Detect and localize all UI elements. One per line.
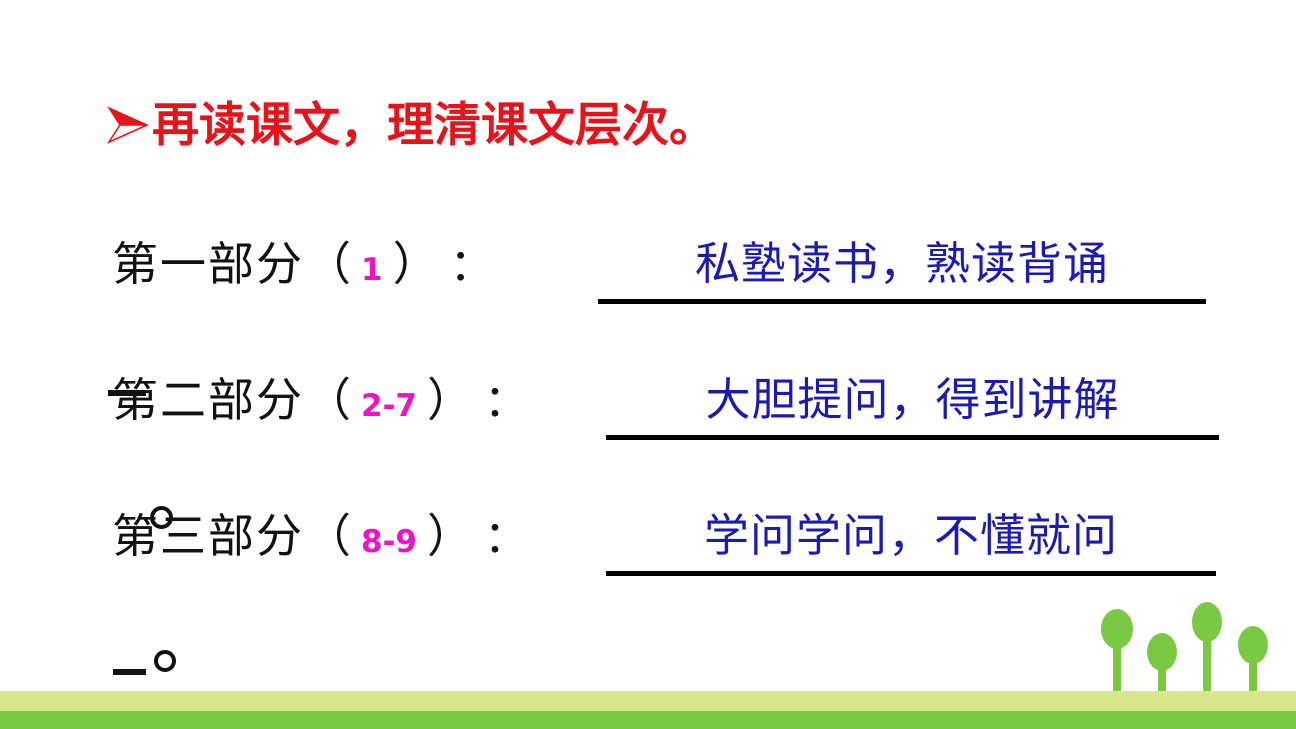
part-row: 第三部分 （ 8-9 ） ： 学问学问，不懂就问	[0, 504, 1296, 596]
tree-1	[1101, 609, 1133, 704]
open-paren: （	[305, 232, 351, 296]
part-label-prefix: 第一部分	[112, 232, 304, 296]
slide-title-text: 再读课文，理清课文层次。	[152, 102, 716, 149]
ground-band-light	[0, 691, 1296, 711]
open-paren: （	[305, 368, 351, 432]
label-colon: ：	[484, 370, 528, 434]
slide-canvas: 再读课文，理清课文层次。 第一部分 （ 1 ） ： 私塾读书，熟读背诵 第二部分…	[0, 0, 1296, 729]
paragraph-range: 2-7	[352, 374, 426, 438]
arrow-bullet-icon	[104, 102, 150, 148]
close-paren: ）	[427, 368, 473, 432]
label-colon: ：	[484, 506, 528, 570]
ground-band-dark	[0, 711, 1296, 729]
tree-3	[1192, 602, 1222, 704]
paragraph-range: 8-9	[352, 510, 426, 574]
slide-title: 再读课文，理清课文层次。	[104, 94, 716, 156]
stray-period-artifact	[150, 506, 173, 529]
stray-period-artifact	[154, 650, 176, 672]
paragraph-range: 1	[352, 238, 392, 302]
part-label: 第二部分 （ 2-7 ） ：	[112, 368, 528, 438]
part-row: 第一部分 （ 1 ） ： 私塾读书，熟读背诵	[0, 232, 1296, 324]
label-colon: ：	[450, 234, 494, 298]
part-label: 第一部分 （ 1 ） ：	[112, 232, 494, 302]
answer-blank: 私塾读书，熟读背诵	[598, 232, 1206, 304]
answer-blank: 学问学问，不懂就问	[606, 504, 1216, 576]
open-paren: （	[305, 504, 351, 568]
stray-dash-artifact	[113, 669, 146, 675]
answer-text: 私塾读书，熟读背诵	[695, 241, 1109, 286]
close-paren: ）	[427, 504, 473, 568]
part-label-prefix: 第三部分	[112, 504, 304, 568]
part-row: 第二部分 （ 2-7 ） ： 大胆提问，得到讲解	[0, 368, 1296, 460]
part-label: 第三部分 （ 8-9 ） ：	[112, 504, 528, 574]
answer-text: 学问学问，不懂就问	[704, 513, 1118, 558]
answer-text: 大胆提问，得到讲解	[705, 377, 1119, 422]
close-paren: ）	[393, 232, 439, 296]
stray-dash-artifact	[108, 390, 146, 396]
answer-blank: 大胆提问，得到讲解	[606, 368, 1219, 440]
part-label-prefix: 第二部分	[112, 368, 304, 432]
